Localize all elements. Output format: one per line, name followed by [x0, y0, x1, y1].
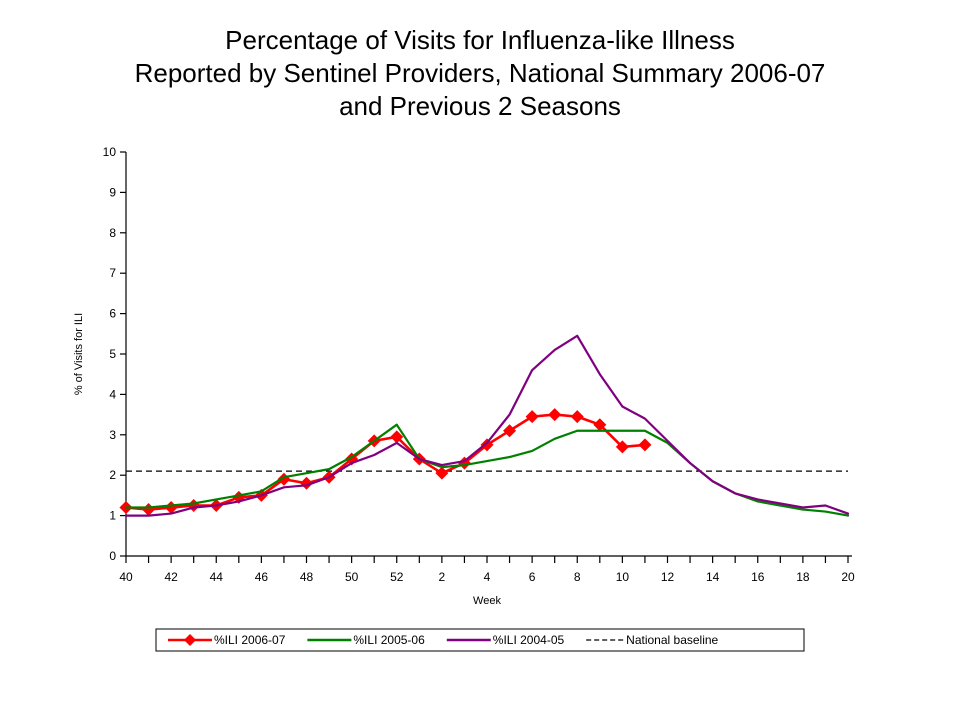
x-axis-tick-label: 16	[751, 570, 765, 584]
legend-label: National baseline	[626, 633, 718, 647]
y-axis-tick-label: 9	[109, 185, 116, 199]
y-axis-tick-label: 5	[109, 347, 116, 361]
data-point-marker	[571, 410, 584, 423]
data-point-marker	[435, 467, 448, 480]
x-axis-tick-label: 10	[616, 570, 630, 584]
y-axis-tick-label: 3	[109, 428, 116, 442]
chart-plot-area: 0123456789104042444648505224681012141618…	[0, 0, 960, 720]
data-point-marker	[548, 408, 561, 421]
x-axis-tick-label: 44	[210, 570, 224, 584]
y-axis-tick-label: 2	[109, 468, 116, 482]
y-axis-tick-label: 1	[109, 509, 116, 523]
y-axis-tick-label: 8	[109, 226, 116, 240]
y-axis-tick-label: 0	[109, 549, 116, 563]
x-axis-tick-label: 40	[119, 570, 133, 584]
y-axis-tick-label: 6	[109, 307, 116, 321]
legend-label: %ILI 2004-05	[493, 633, 565, 647]
x-axis-tick-label: 18	[796, 570, 810, 584]
series-line--ili-2004-05	[126, 336, 848, 516]
data-point-marker	[638, 438, 651, 451]
x-axis-tick-label: 52	[390, 570, 404, 584]
x-axis-tick-label: 6	[529, 570, 536, 584]
x-axis-tick-label: 48	[300, 570, 314, 584]
y-axis-tick-label: 10	[103, 145, 117, 159]
y-axis-title: % of Visits for ILI	[73, 313, 85, 395]
legend-label: %ILI 2005-06	[353, 633, 425, 647]
y-axis-tick-label: 4	[109, 387, 116, 401]
legend-label: %ILI 2006-07	[214, 633, 286, 647]
data-point-marker	[187, 499, 200, 512]
data-point-marker	[526, 410, 539, 423]
x-axis-tick-label: 42	[164, 570, 178, 584]
x-axis-tick-label: 2	[439, 570, 446, 584]
x-axis-tick-label: 46	[255, 570, 269, 584]
ili-line-chart: 0123456789104042444648505224681012141618…	[0, 0, 960, 720]
y-axis-tick-label: 7	[109, 266, 116, 280]
x-axis-tick-label: 12	[661, 570, 675, 584]
x-axis-title: Week	[473, 595, 501, 607]
x-axis-tick-label: 8	[574, 570, 581, 584]
x-axis-tick-label: 50	[345, 570, 359, 584]
series-line--ili-2006-07	[126, 415, 645, 510]
x-axis-tick-label: 20	[841, 570, 855, 584]
x-axis-tick-label: 14	[706, 570, 720, 584]
x-axis-tick-label: 4	[484, 570, 491, 584]
data-point-marker	[503, 424, 516, 437]
